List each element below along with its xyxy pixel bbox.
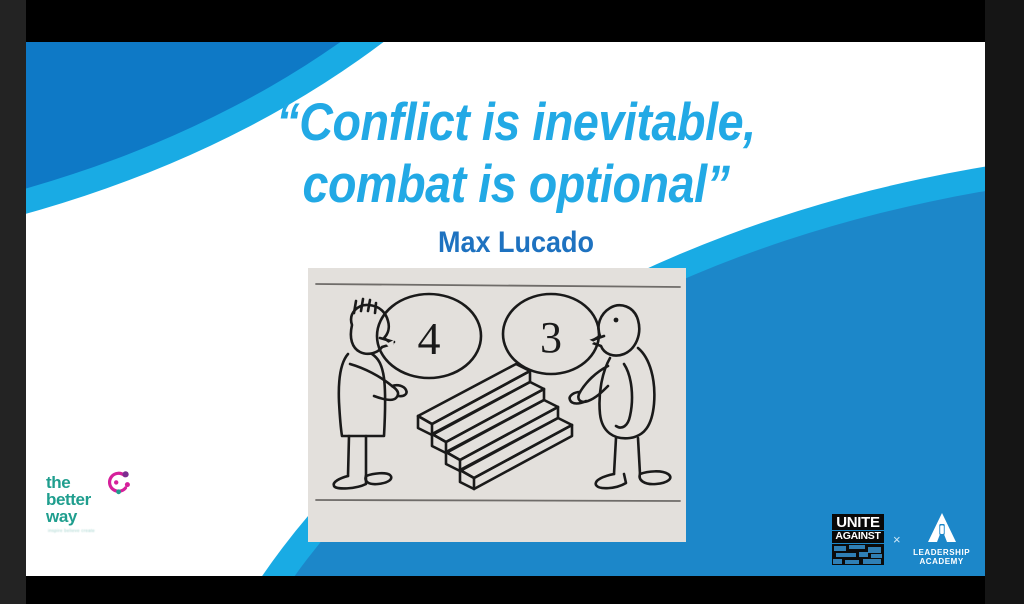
quote-line-2: combat is optional” — [217, 154, 815, 216]
logo-leadership-academy: LEADERSHIP ACADEMY — [910, 512, 974, 567]
logo-unite-against-hate: UNITE AGAINST — [832, 514, 884, 564]
unite-line-1: UNITE — [832, 514, 884, 530]
academy-line-2: ACADEMY — [910, 557, 974, 567]
betterway-line-1: the — [46, 474, 91, 491]
logo-the-better-way: the better way inspire believe create — [46, 466, 156, 552]
academy-line-1: LEADERSHIP — [910, 548, 974, 558]
unite-line-3-glitched — [832, 544, 884, 565]
quote-line-1: “Conflict is inevitable, — [217, 92, 815, 154]
unite-line-2: AGAINST — [832, 531, 884, 543]
letterbox-left — [0, 0, 26, 604]
betterway-tagline: inspire believe create — [48, 528, 148, 536]
betterway-circle-icon — [104, 470, 130, 496]
betterway-line-2: better — [46, 491, 91, 508]
cartoon-illustration: 4 — [308, 268, 686, 542]
screenshot-viewport: “Conflict is inevitable, combat is optio… — [0, 0, 1024, 604]
betterway-wordmark: the better way — [46, 474, 91, 525]
letterbox-top — [26, 0, 985, 42]
svg-text:4: 4 — [418, 313, 441, 364]
partner-logo-lockup: UNITE AGAINST × — [832, 508, 982, 570]
leadership-academy-a-icon — [910, 512, 974, 543]
letterbox-bottom — [26, 576, 985, 604]
quote-attribution: Max Lucado — [210, 226, 822, 260]
presentation-slide: “Conflict is inevitable, combat is optio… — [26, 42, 985, 576]
betterway-line-3: way — [46, 508, 91, 525]
letterbox-right — [985, 0, 1024, 604]
svg-text:3: 3 — [540, 313, 562, 362]
quote-block: “Conflict is inevitable, combat is optio… — [176, 92, 856, 260]
logo-separator-x: × — [893, 532, 901, 547]
